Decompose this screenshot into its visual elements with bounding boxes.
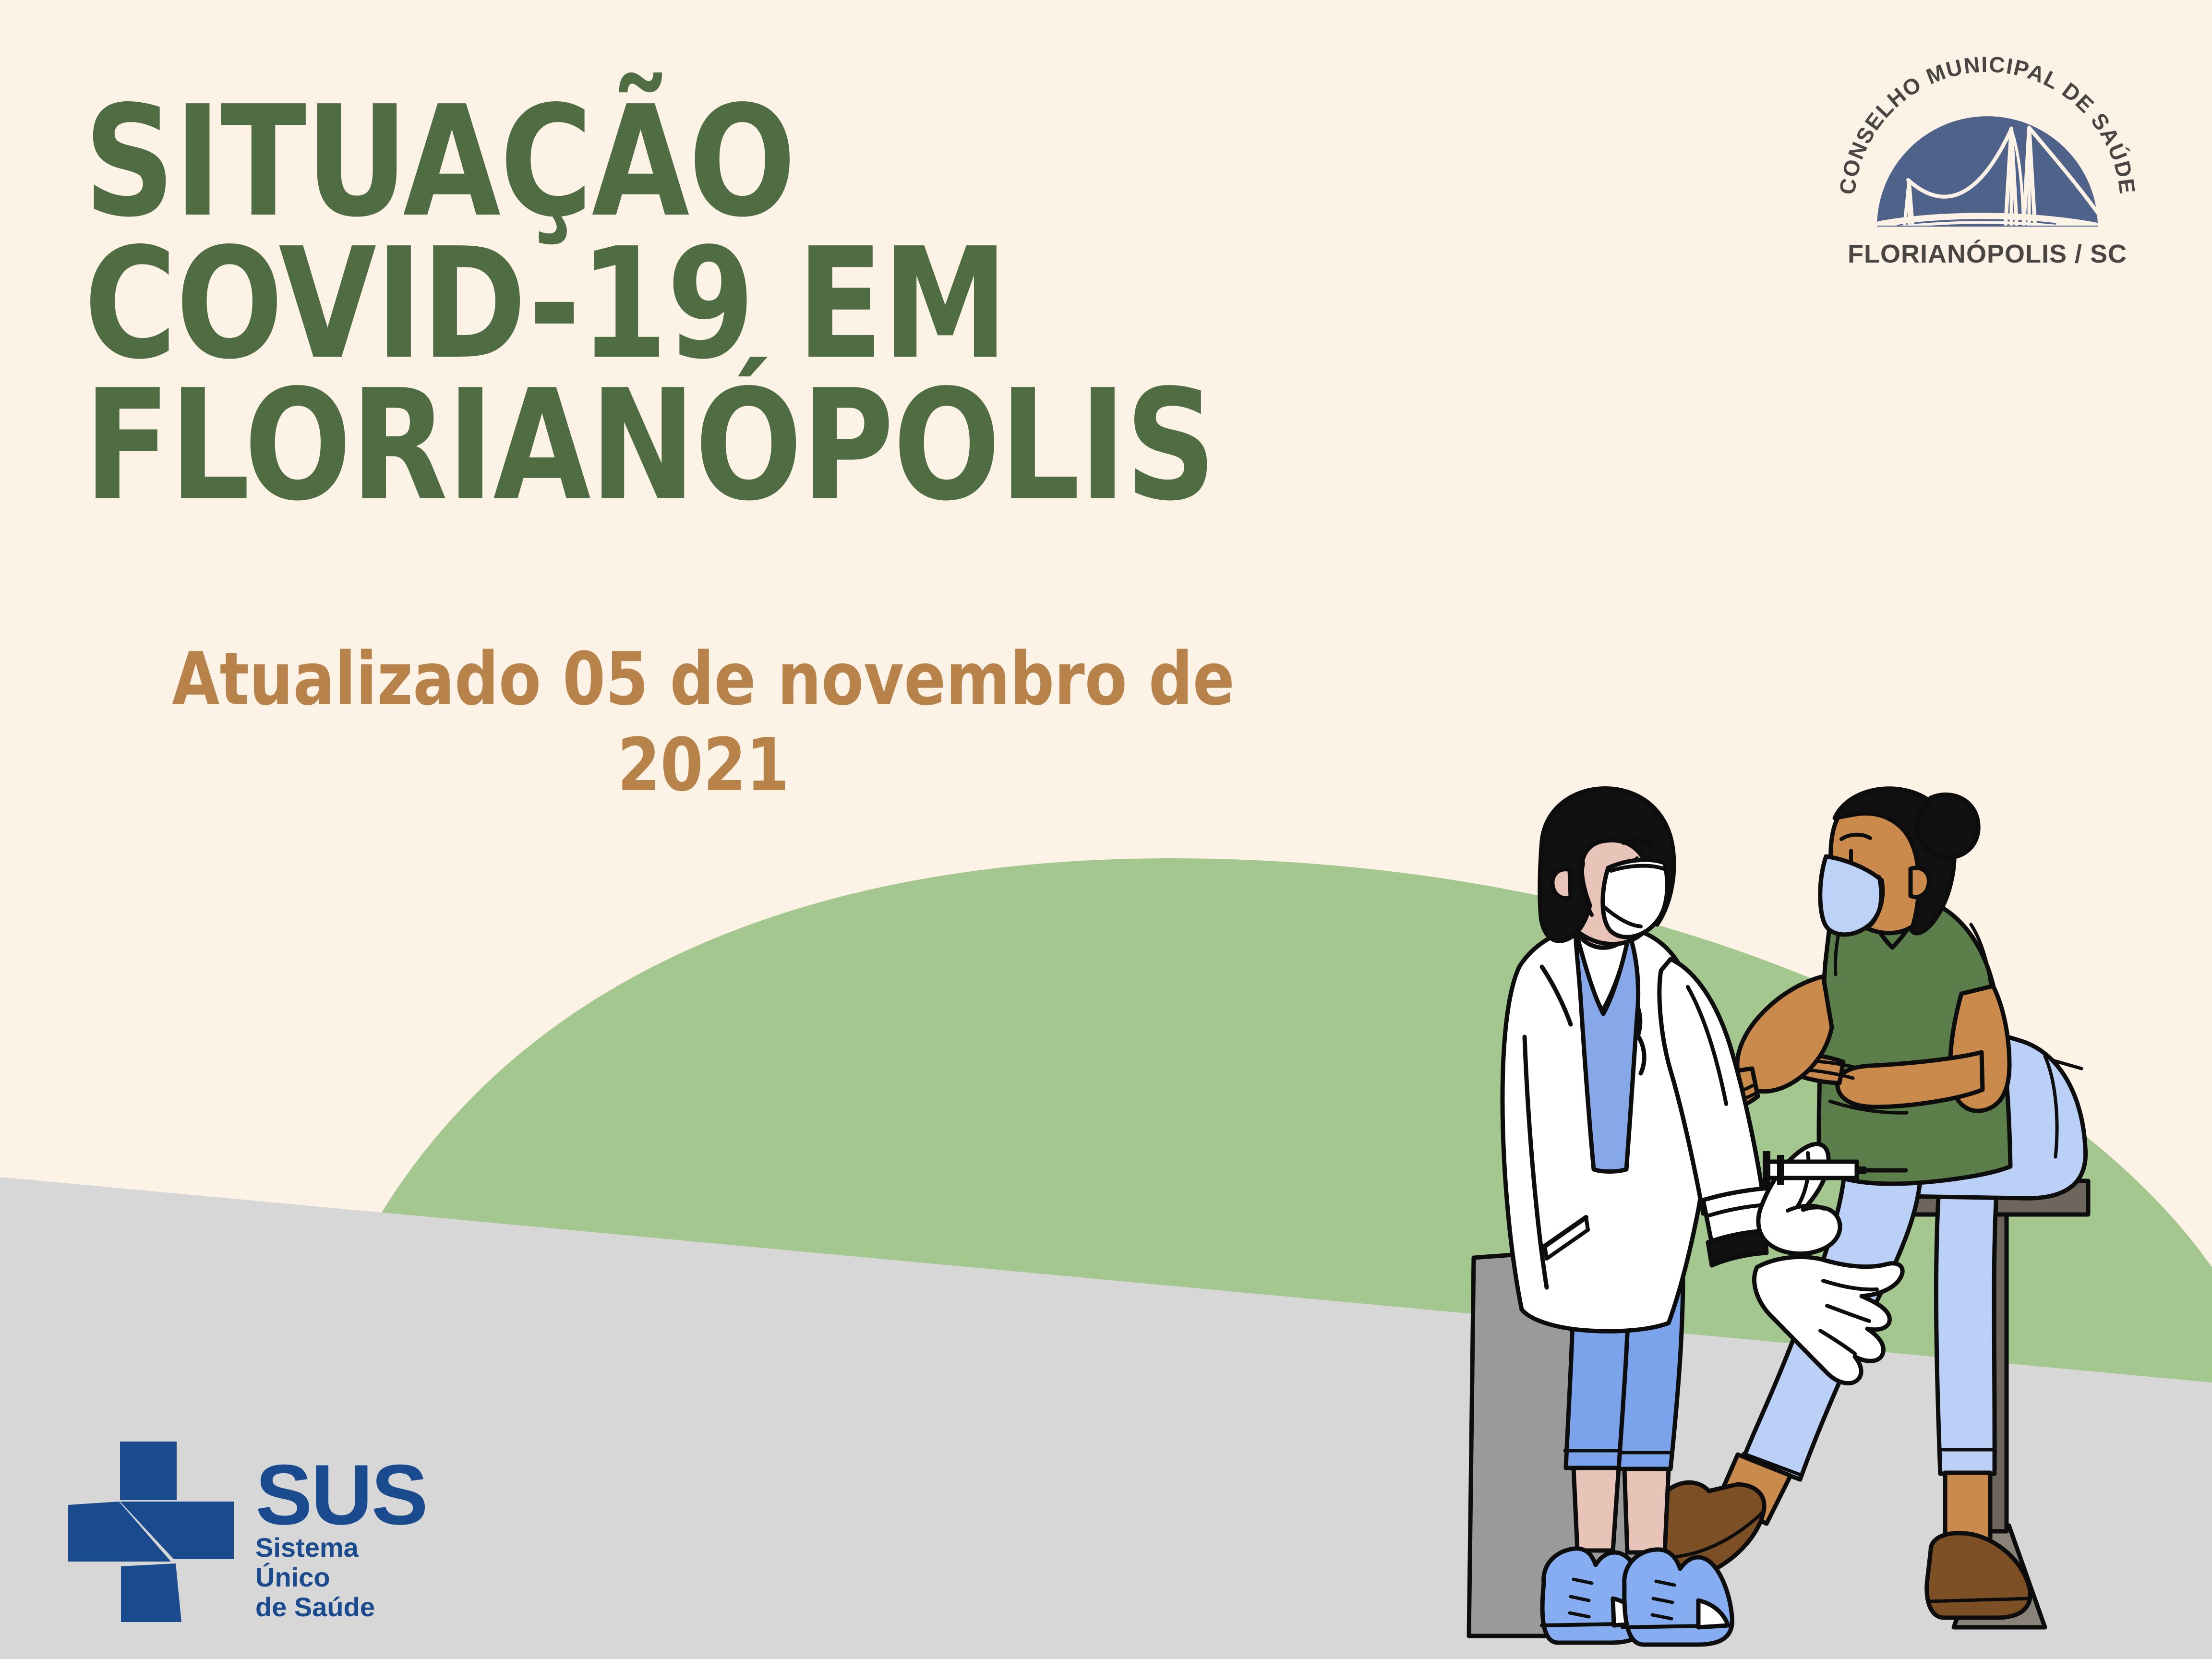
nurse-ankle-right	[1624, 1469, 1669, 1552]
title-line-2: COVID-19 EM	[84, 233, 1387, 375]
vaccination-illustration-svg	[1421, 782, 2212, 1659]
sus-tagline-line-1: Sistema	[255, 1532, 359, 1563]
sus-tagline-line-2: Único	[255, 1562, 330, 1592]
sus-cross-icon	[68, 1442, 234, 1622]
vaccination-illustration	[1421, 782, 2212, 1659]
title-line-3: FLORIANÓPOLIS	[84, 375, 1387, 517]
update-date: Atualizado 05 de novembro de 2021	[121, 636, 1285, 808]
cms-bottom-text: FLORIANÓPOLIS / SC	[1848, 240, 2127, 268]
update-date-line-1: Atualizado 05 de novembro de	[121, 636, 1285, 722]
sus-tagline-line-3: de Saúde	[255, 1592, 375, 1622]
sus-logo: SUS Sistema Único de Saúde	[67, 1438, 432, 1625]
nurse-glove-lower	[1755, 1257, 1903, 1383]
update-date-line-2: 2021	[121, 722, 1285, 808]
patient-ear	[1911, 868, 1929, 897]
patient-back-leg	[1936, 1181, 1997, 1474]
cms-logo-svg: CONSELHO MUNICIPAL DE SAÚDE FLORIANÓPOLI…	[1831, 36, 2143, 305]
conselho-municipal-saude-logo: CONSELHO MUNICIPAL DE SAÚDE FLORIANÓPOLI…	[1831, 36, 2143, 305]
poster-canvas: SITUAÇÃO COVID-19 EM FLORIANÓPOLIS Atual…	[0, 0, 2212, 1659]
nurse-ankle-left	[1574, 1468, 1619, 1551]
patient-hair-bun	[1917, 794, 1978, 857]
nurse-ear	[1552, 869, 1571, 899]
sus-logo-svg: SUS Sistema Único de Saúde	[67, 1438, 432, 1625]
sus-acronym: SUS	[255, 1447, 427, 1542]
title-line-1: SITUAÇÃO	[84, 91, 1387, 233]
page-title: SITUAÇÃO COVID-19 EM FLORIANÓPOLIS	[84, 91, 1387, 517]
